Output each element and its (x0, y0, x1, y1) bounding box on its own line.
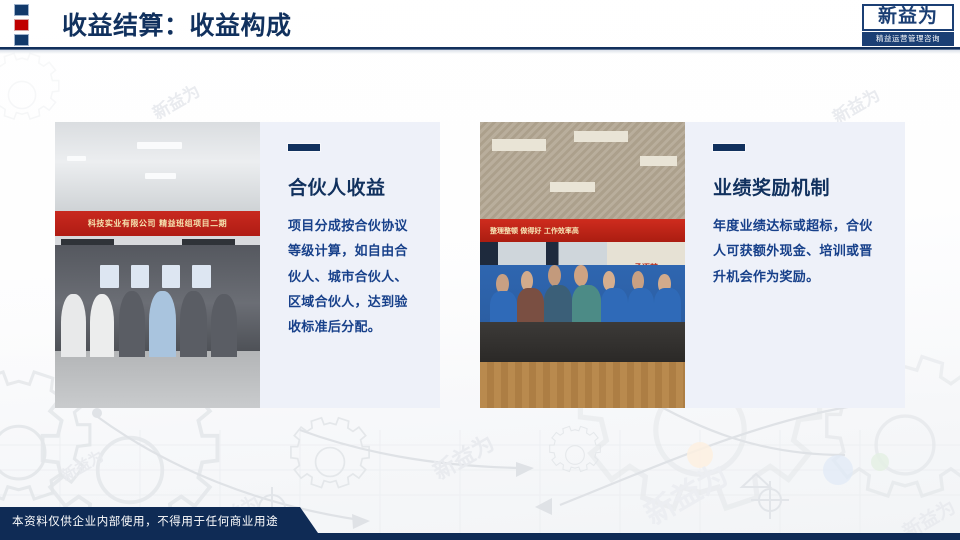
slide-root: 新益为 新益为 新益为 新益为 新益为 新益为 新益为 收益结算：收益构成 新益… (0, 0, 960, 540)
card-body-performance-incentive: 业绩奖励机制 年度业绩达标或超标，合伙人可获额外现金、培训或晋升机会作为奖励。 (685, 122, 905, 408)
card-heading: 业绩奖励机制 (713, 173, 883, 200)
photo-banner-caption: 科技实业有限公司 精益班组项目二期 (55, 211, 260, 237)
watermark-text: 新益为 (635, 450, 735, 533)
watermark-text: 新益为 (827, 81, 884, 128)
watermark-text: 新益为 (147, 77, 204, 124)
slide-header: 收益结算：收益构成 新益为 精益运营管理咨询 (0, 0, 960, 52)
brand-logo: 新益为 精益运营管理咨询 (862, 4, 954, 46)
brand-logo-name: 新益为 (862, 4, 954, 31)
brand-logo-tagline: 精益运营管理咨询 (862, 32, 954, 46)
accent-dash-icon (713, 144, 745, 151)
watermark-text: 新益为 (897, 493, 960, 540)
marker-square-navy-bottom (14, 34, 29, 46)
marker-square-navy-top (14, 4, 29, 16)
content-card-performance-incentive: 整理整顿 做得好 工作效率高 承逐梦 (480, 122, 905, 408)
card-body-partner-earnings: 合伙人收益 项目分成按合伙协议等级计算，如自由合伙人、城市合伙人、区域合伙人，达… (260, 122, 440, 408)
photo-banner-caption-left: 整理整顿 做得好 工作效率高 (480, 219, 685, 242)
header-divider-shadow (0, 50, 960, 54)
card-description: 年度业绩达标或超标，合伙人可获额外现金、培训或晋升机会作为奖励。 (713, 214, 883, 290)
watermark-text: 新益为 (58, 445, 107, 486)
content-card-partner-earnings: 科技实业有限公司 精益班组项目二期 合伙人收益 (55, 122, 440, 408)
card-heading: 合伙人收益 (288, 173, 418, 200)
page-title: 收益结算：收益构成 (62, 6, 292, 42)
accent-dash-icon (288, 144, 320, 151)
footer-notice: 本资料仅供企业内部使用，不得用于任何商业用途 (12, 513, 278, 529)
marker-square-red (14, 19, 29, 31)
photo-conference-training: 整理整顿 做得好 工作效率高 承逐梦 (480, 122, 685, 408)
card-description: 项目分成按合伙协议等级计算，如自由合伙人、城市合伙人、区域合伙人，达到验收标准后… (288, 214, 418, 341)
watermark-text: 新益为 (426, 426, 499, 487)
photo-group-ceremony: 科技实业有限公司 精益班组项目二期 (55, 122, 260, 408)
title-marker-squares (14, 4, 30, 49)
